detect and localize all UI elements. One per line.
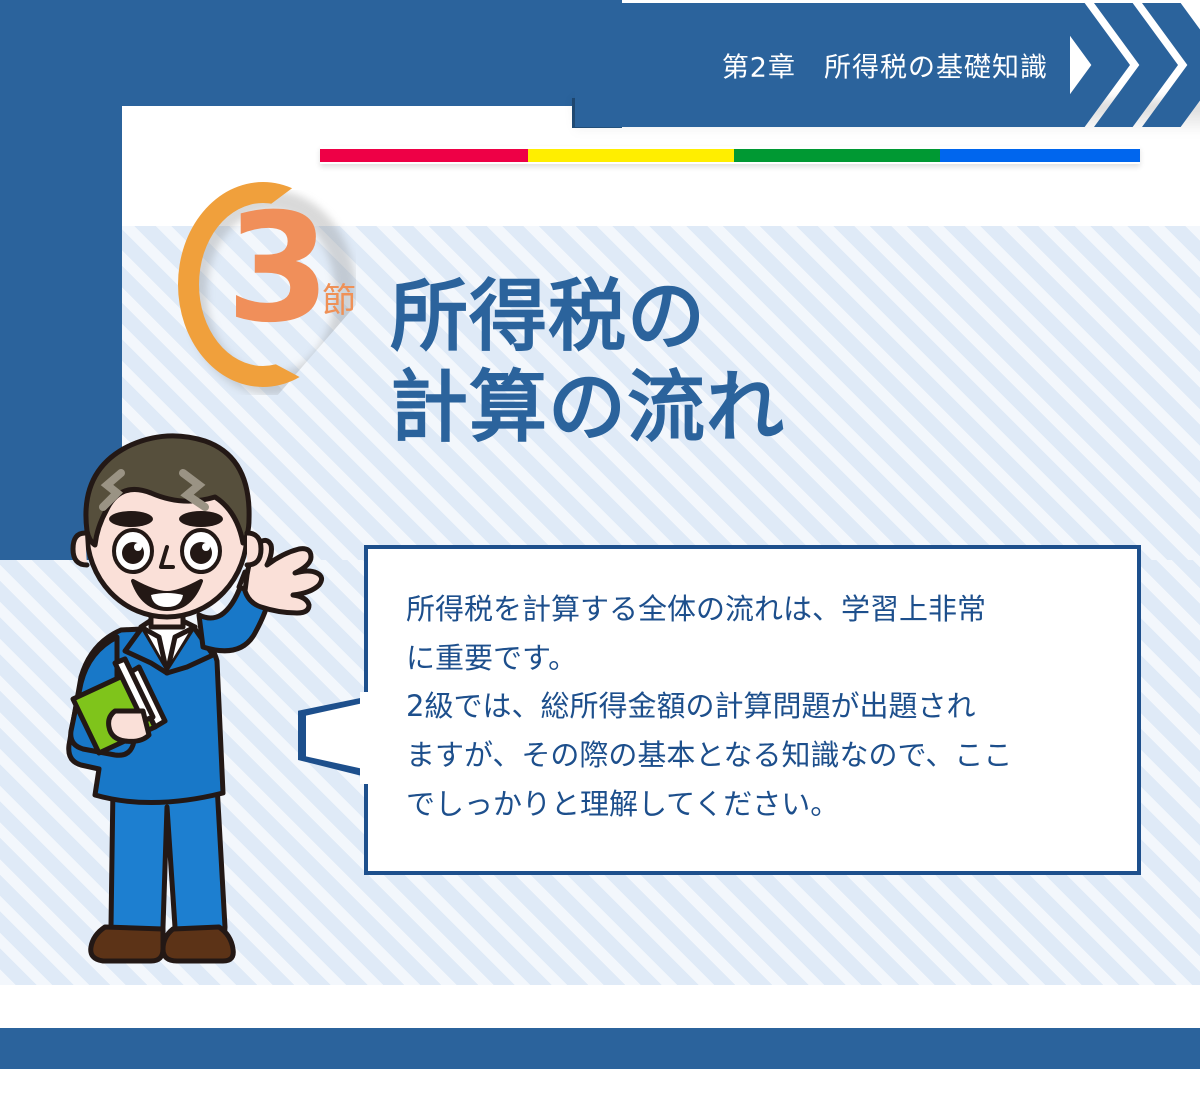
page-title: 所得税の 計算の流れ — [390, 272, 1010, 455]
speech-bubble: 所得税を計算する全体の流れは、学習上非常 に重要です。 2級では、総所得金額の計… — [364, 545, 1141, 875]
ribbon-banner: 第2章 所得税の基礎知識 — [575, 3, 1070, 127]
speech-line-5: でしっかりと理解してください。 — [406, 780, 1112, 829]
trousers — [111, 785, 225, 939]
speech-line-2: に重要です。 — [406, 634, 1112, 683]
left-eye-highlight — [134, 543, 142, 551]
speech-line-1: 所得税を計算する全体の流れは、学習上非常 — [406, 585, 1112, 634]
speech-bubble-text: 所得税を計算する全体の流れは、学習上非常 に重要です。 2級では、総所得金額の計… — [406, 585, 1112, 829]
speech-line-3: 2級では、総所得金額の計算問題が出題され — [406, 682, 1112, 731]
header-ribbon: 第2章 所得税の基礎知識 — [0, 0, 1200, 140]
color-rule-segment-green — [734, 149, 940, 162]
speech-bubble-tail-mask — [360, 692, 374, 784]
right-ear — [247, 533, 261, 565]
left-eyebrow — [109, 511, 153, 527]
color-rule-segment-red — [320, 149, 528, 162]
left-ear — [73, 533, 87, 565]
speech-line-4: ますが、その際の基本となる知識なので、ここ — [406, 731, 1112, 780]
chapter-title: 第2章 所得税の基礎知識 — [722, 46, 1048, 85]
section-number-badge: 3 節 — [160, 172, 375, 422]
section-number: 3 — [226, 194, 330, 344]
color-rule-segment-yellow — [528, 149, 734, 162]
right-eyebrow — [179, 511, 223, 527]
right-shoe — [163, 927, 233, 961]
page-root: 第2章 所得税の基礎知識 3 節 所得税の 計算の流れ — [0, 0, 1200, 1100]
page-title-line-2: 計算の流れ — [390, 363, 1010, 454]
section-unit-label: 節 — [322, 284, 356, 318]
footer-bar — [0, 1028, 1200, 1069]
left-shoe — [91, 927, 163, 961]
page-title-line-1: 所得税の — [390, 272, 1010, 363]
right-eye-highlight — [202, 543, 210, 551]
left-hand — [109, 711, 149, 741]
character-illustration — [55, 415, 355, 975]
color-rule-segment-blue — [940, 149, 1140, 162]
